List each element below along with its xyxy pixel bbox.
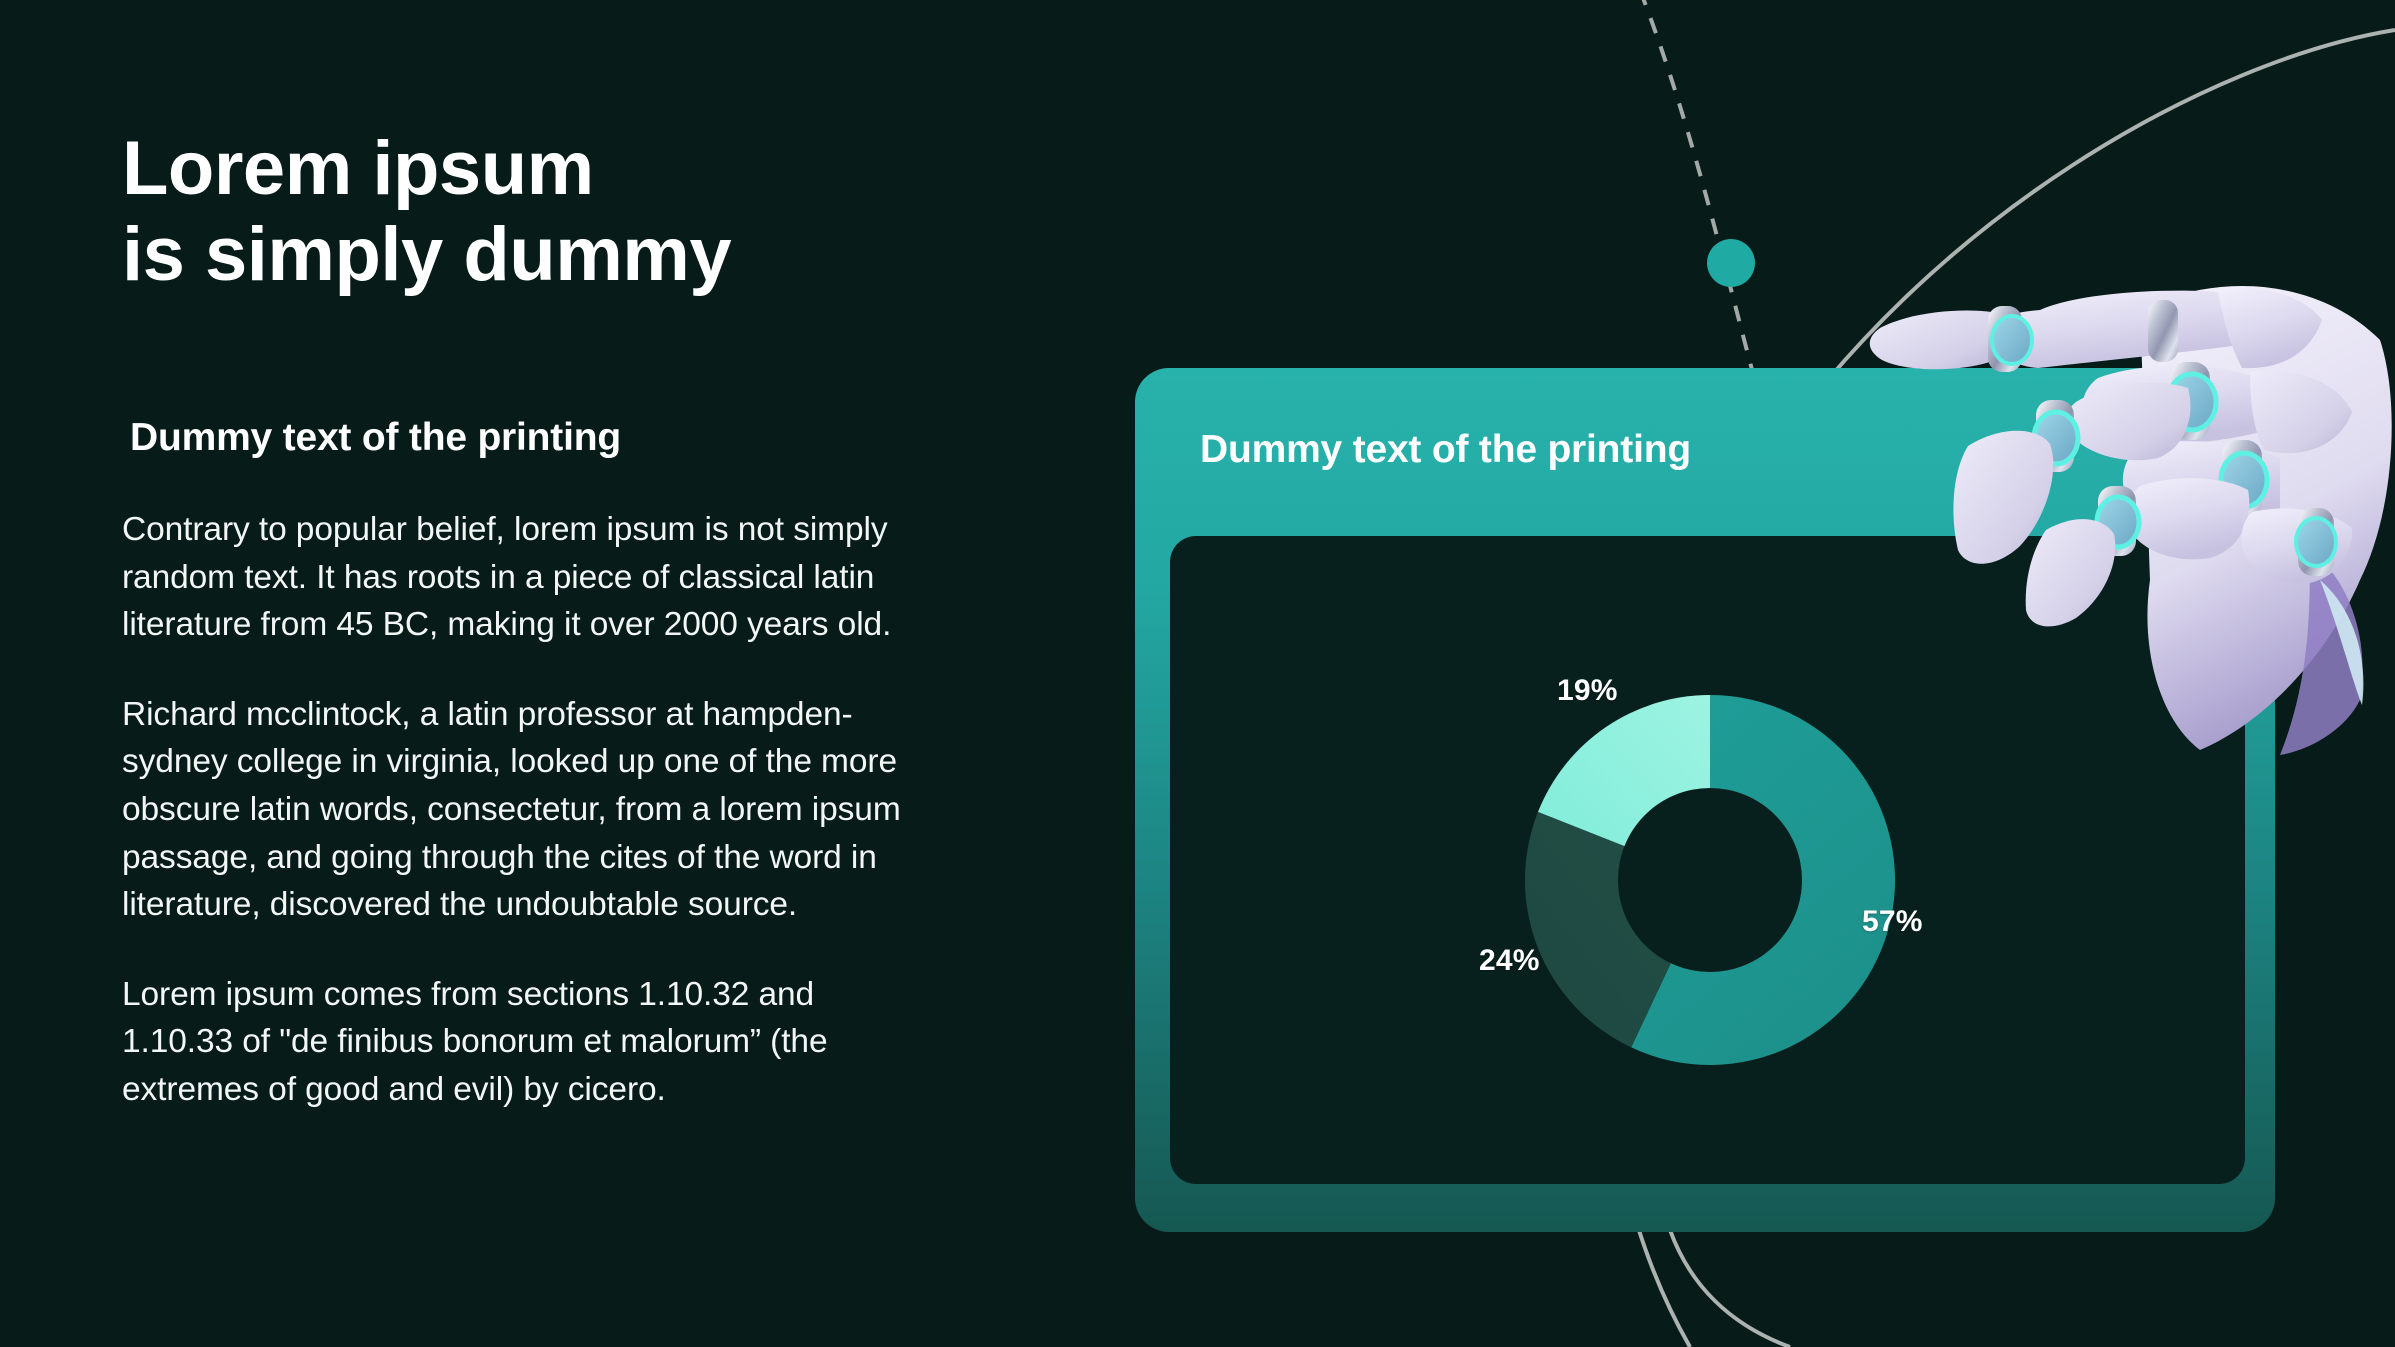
left-content-column: Lorem ipsum is simply dummy Dummy text o…	[122, 128, 1122, 1113]
donut-label-segment-1: 57%	[1862, 905, 1923, 939]
section-subheading: Dummy text of the printing	[130, 416, 1122, 460]
page-title: Lorem ipsum is simply dummy	[122, 128, 1122, 296]
slide-root: Lorem ipsum is simply dummy Dummy text o…	[0, 0, 2395, 1347]
body-paragraph-1: Contrary to popular belief, lorem ipsum …	[122, 506, 1122, 649]
donut-label-segment-2: 24%	[1479, 944, 1540, 978]
donut-chart-svg	[1520, 690, 1900, 1070]
page-title-line-1: Lorem ipsum	[122, 128, 1122, 210]
chart-card-title: Dummy text of the printing	[1200, 428, 1691, 472]
donut-label-segment-3: 19%	[1557, 674, 1618, 708]
orbit-node-dot	[1707, 239, 1755, 287]
donut-hole	[1618, 788, 1802, 972]
robot-hand-finger-index	[1870, 288, 2322, 372]
donut-chart	[1520, 690, 1900, 1070]
page-title-line-2: is simply dummy	[122, 214, 1122, 296]
body-paragraph-2: Richard mcclintock, a latin professor at…	[122, 691, 1122, 929]
body-paragraph-3: Lorem ipsum comes from sections 1.10.32 …	[122, 971, 1122, 1114]
lower-orbit-arc	[1670, 1230, 1790, 1347]
